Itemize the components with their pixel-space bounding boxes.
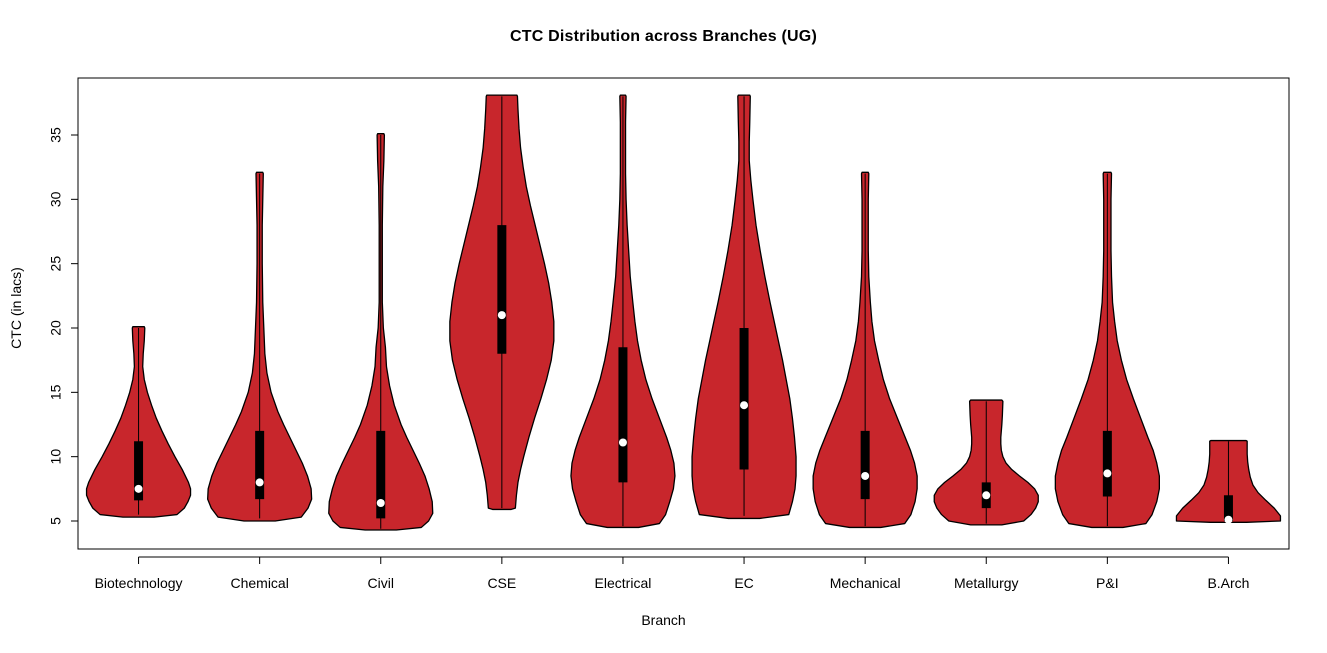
y-axis-tick-label: 25	[48, 256, 64, 272]
violin-electrical[interactable]	[571, 95, 675, 527]
y-axis-tick-label: 15	[48, 384, 64, 400]
violin-p-i[interactable]	[1055, 172, 1159, 527]
y-axis-tick-label: 35	[48, 127, 64, 143]
median-point	[1103, 469, 1111, 477]
violin-series-group	[87, 95, 1281, 530]
median-point	[1224, 516, 1232, 524]
x-axis-tick-label-mechanical: Mechanical	[830, 575, 901, 591]
median-point	[861, 472, 869, 480]
violin-ec[interactable]	[692, 95, 796, 518]
x-axis-tick-label-metallurgy: Metallurgy	[954, 575, 1019, 591]
x-axis-tick-label-cse: CSE	[487, 575, 516, 591]
violin-civil[interactable]	[329, 134, 433, 530]
median-point	[982, 491, 990, 499]
median-point	[498, 311, 506, 319]
y-axis-tick-label: 5	[48, 517, 64, 525]
x-axis-tick-label-electrical: Electrical	[595, 575, 652, 591]
x-axis-tick-label-ec: EC	[734, 575, 753, 591]
y-axis-tick-label: 30	[48, 191, 64, 207]
violin-b-arch[interactable]	[1176, 441, 1280, 524]
median-point	[619, 439, 627, 447]
violin-mechanical[interactable]	[813, 172, 917, 527]
median-point	[256, 478, 264, 486]
y-axis: 5101520253035	[48, 93, 78, 536]
violin-cse[interactable]	[450, 95, 554, 509]
chart-canvas: CTC Distribution across Branches (UG) CT…	[0, 0, 1327, 653]
x-axis-tick-label-civil: Civil	[368, 575, 394, 591]
median-point	[135, 485, 143, 493]
violin-biotechnology[interactable]	[87, 327, 191, 517]
violin-metallurgy[interactable]	[934, 400, 1038, 525]
y-axis-tick-label: 20	[48, 320, 64, 336]
y-axis-tick-label: 10	[48, 449, 64, 465]
violin-chemical[interactable]	[208, 172, 312, 521]
x-axis: BiotechnologyChemicalCivilCSEElectricalE…	[95, 557, 1250, 591]
x-axis-tick-label-p-i: P&I	[1096, 575, 1119, 591]
x-axis-tick-label-b-arch: B.Arch	[1207, 575, 1249, 591]
x-axis-tick-label-biotechnology: Biotechnology	[95, 575, 183, 591]
median-point	[377, 499, 385, 507]
median-point	[740, 401, 748, 409]
violin-plot: 5101520253035 BiotechnologyChemicalCivil…	[0, 0, 1327, 653]
x-axis-tick-label-chemical: Chemical	[230, 575, 288, 591]
